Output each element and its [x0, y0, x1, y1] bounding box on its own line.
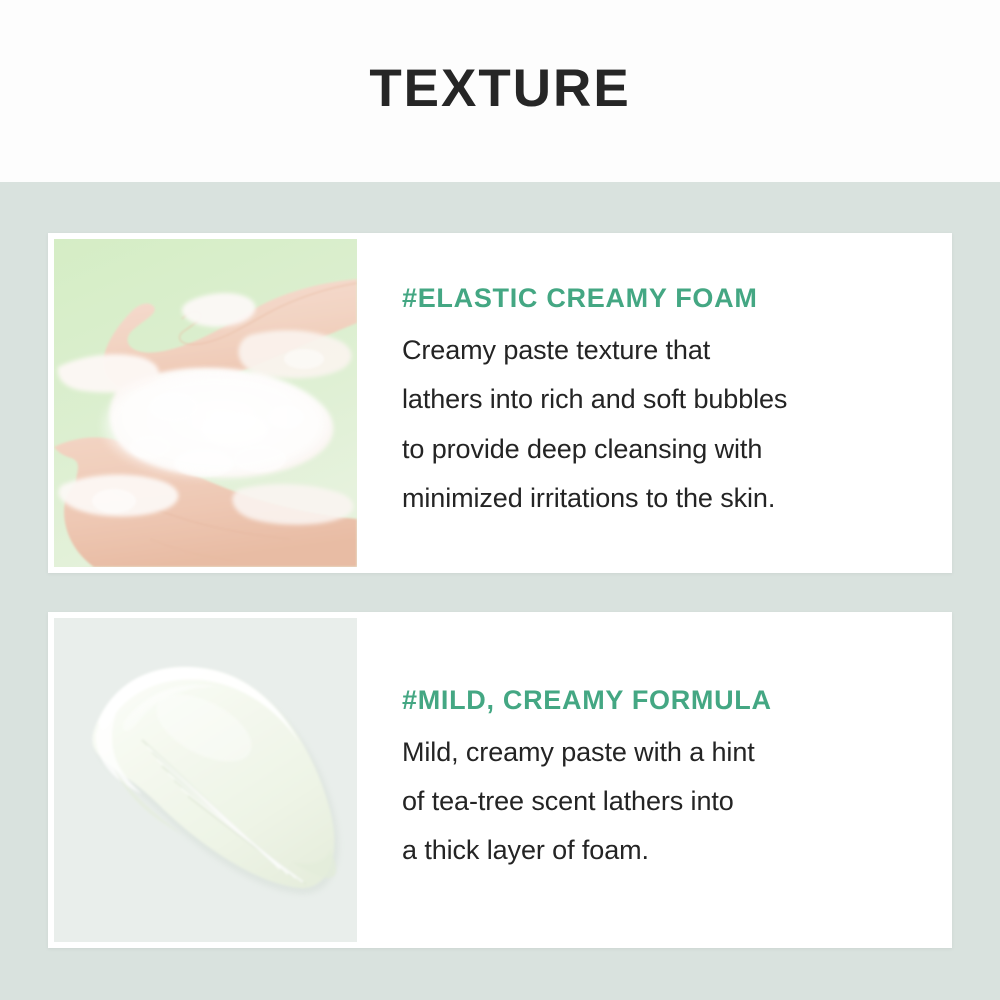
- texture-product-page: TEXTURE: [0, 0, 1000, 1000]
- feature-card-mild-creamy-formula: #MILD, CREAMY FORMULA Mild, creamy paste…: [48, 612, 952, 948]
- card-heading: #MILD, CREAMY FORMULA: [402, 685, 926, 716]
- feature-card-elastic-creamy-foam: #ELASTIC CREAMY FOAM Creamy paste textur…: [48, 233, 952, 573]
- card-text-block: #MILD, CREAMY FORMULA Mild, creamy paste…: [357, 618, 946, 942]
- card-description: Creamy paste texture that lathers into r…: [402, 326, 926, 523]
- description-line: Mild, creamy paste with a hint: [402, 728, 926, 777]
- card-heading: #ELASTIC CREAMY FOAM: [402, 283, 926, 314]
- description-line: a thick layer of foam.: [402, 826, 926, 875]
- description-line: Creamy paste texture that: [402, 326, 926, 375]
- card-text-block: #ELASTIC CREAMY FOAM Creamy paste textur…: [357, 239, 946, 567]
- card-description: Mild, creamy paste with a hint of tea-tr…: [402, 728, 926, 875]
- page-header: TEXTURE: [0, 0, 1000, 182]
- description-line: minimized irritations to the skin.: [402, 474, 926, 523]
- description-line: to provide deep cleansing with: [402, 425, 926, 474]
- cream-swatch-smear-photo: [54, 618, 357, 942]
- page-title: TEXTURE: [369, 62, 630, 121]
- hands-lathering-foam-photo: [54, 239, 357, 567]
- description-line: of tea-tree scent lathers into: [402, 777, 926, 826]
- description-line: lathers into rich and soft bubbles: [402, 375, 926, 424]
